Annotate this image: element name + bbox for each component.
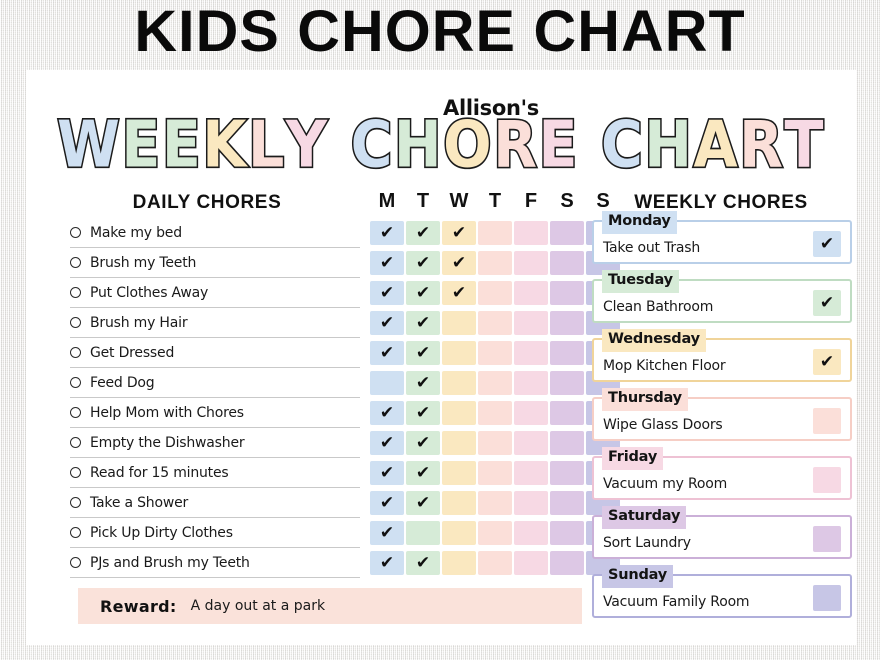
- checkbox-cell-checked[interactable]: ✔: [406, 311, 440, 335]
- daily-chore-row: Pick Up Dirty Clothes: [70, 518, 360, 548]
- weekly-chore-item: SaturdaySort Laundry: [592, 515, 852, 559]
- checkbox-cell-checked[interactable]: ✔: [406, 551, 440, 575]
- weekday-initial-0: M: [370, 190, 404, 213]
- checkbox-grid-row: ✔✔: [370, 398, 622, 428]
- checkbox-cell-empty[interactable]: [514, 221, 548, 245]
- weekly-chore-day-label: Monday: [602, 211, 677, 234]
- weekly-chore-day-label: Wednesday: [602, 329, 706, 352]
- checkbox-cell-empty[interactable]: [550, 401, 584, 425]
- bubble-letter-c-7: C: [351, 110, 394, 179]
- checkbox-cell-checked[interactable]: ✔: [370, 491, 404, 515]
- checkbox-cell-empty[interactable]: [442, 551, 476, 575]
- checkbox-cell-empty[interactable]: [442, 491, 476, 515]
- weekly-chore-task[interactable]: Sort Laundry: [603, 535, 691, 551]
- checkbox-cell-empty[interactable]: [514, 461, 548, 485]
- bubble-letter-r-10: R: [493, 110, 538, 179]
- daily-chore-label: Make my bed: [90, 225, 182, 241]
- checkbox-cell-checked[interactable]: ✔: [406, 371, 440, 395]
- checkbox-cell-empty[interactable]: [550, 341, 584, 365]
- checkbox-grid-row: ✔✔: [370, 458, 622, 488]
- weekly-chore-item: SundayVacuum Family Room: [592, 574, 852, 618]
- checkbox-cell-empty[interactable]: [478, 401, 512, 425]
- checkbox-cell-checked[interactable]: ✔: [370, 551, 404, 575]
- weekly-chore-day-label: Tuesday: [602, 270, 679, 293]
- circle-checkbox-icon[interactable]: [70, 377, 81, 388]
- weekly-chore-task[interactable]: Vacuum Family Room: [603, 594, 749, 610]
- daily-chore-label: Read for 15 minutes: [90, 465, 228, 481]
- daily-chore-label: Help Mom with Chores: [90, 405, 244, 421]
- circle-checkbox-icon[interactable]: [70, 557, 81, 568]
- weekly-checkbox-empty[interactable]: [813, 467, 841, 493]
- daily-chore-row: Read for 15 minutes: [70, 458, 360, 488]
- weekly-checkbox-empty[interactable]: [813, 585, 841, 611]
- circle-checkbox-icon[interactable]: [70, 527, 81, 538]
- checkbox-cell-empty[interactable]: [478, 281, 512, 305]
- weekly-chore-item: MondayTake out Trash✔: [592, 220, 852, 264]
- checkbox-cell-checked[interactable]: ✔: [370, 401, 404, 425]
- checkbox-grid-row: ✔✔: [370, 488, 622, 518]
- checkbox-cell-checked[interactable]: ✔: [406, 221, 440, 245]
- checkbox-cell-empty[interactable]: [442, 521, 476, 545]
- weekly-chore-task[interactable]: Mop Kitchen Floor: [603, 358, 725, 374]
- checkbox-grid-row: ✔✔: [370, 308, 622, 338]
- weekly-chore-day-label: Friday: [602, 447, 663, 470]
- bubble-heading: WEEKLYCHORECHART: [26, 114, 856, 176]
- weekly-chore-task[interactable]: Clean Bathroom: [603, 299, 713, 315]
- weekly-checkbox-checked[interactable]: ✔: [813, 290, 841, 316]
- weekday-initial-3: T: [478, 190, 512, 213]
- checkbox-cell-checked[interactable]: ✔: [406, 491, 440, 515]
- daily-chore-label: PJs and Brush my Teeth: [90, 555, 250, 571]
- weekly-chore-task[interactable]: Vacuum my Room: [603, 476, 727, 492]
- checkbox-grid-row: ✔✔: [370, 548, 622, 578]
- daily-chore-label: Get Dressed: [90, 345, 174, 361]
- checkbox-cell-empty[interactable]: [514, 251, 548, 275]
- weekday-initial-1: T: [406, 190, 440, 213]
- circle-checkbox-icon[interactable]: [70, 347, 81, 358]
- bubble-letter-k-3: K: [202, 110, 248, 179]
- bubble-letter-l-4: L: [248, 110, 286, 179]
- checkbox-cell-empty[interactable]: [550, 461, 584, 485]
- reward-bar: Reward: A day out at a park: [78, 588, 582, 624]
- bubble-letter-y-5: Y: [286, 110, 329, 179]
- checkbox-grid-row: ✔✔✔: [370, 218, 622, 248]
- weekly-chore-item: ThursdayWipe Glass Doors: [592, 397, 852, 441]
- checkbox-cell-checked[interactable]: ✔: [406, 251, 440, 275]
- checkbox-cell-empty[interactable]: [550, 221, 584, 245]
- checkbox-cell-checked[interactable]: ✔: [442, 221, 476, 245]
- checkbox-cell-checked[interactable]: ✔: [370, 281, 404, 305]
- weekday-header-row: MTWTFSS: [370, 190, 622, 213]
- checkbox-grid-row: ✔: [370, 368, 622, 398]
- bubble-letter-t-17: T: [785, 110, 825, 179]
- daily-chore-label: Empty the Dishwasher: [90, 435, 244, 451]
- reward-value[interactable]: A day out at a park: [191, 598, 325, 614]
- checkbox-cell-empty[interactable]: [550, 551, 584, 575]
- checkbox-cell-empty[interactable]: [514, 371, 548, 395]
- weekly-chore-task[interactable]: Take out Trash: [603, 240, 700, 256]
- checkbox-cell-empty[interactable]: [550, 371, 584, 395]
- checkbox-cell-checked[interactable]: ✔: [370, 221, 404, 245]
- weekly-checkbox-empty[interactable]: [813, 526, 841, 552]
- checkbox-cell-empty[interactable]: [478, 371, 512, 395]
- checkbox-grid-row: ✔✔: [370, 428, 622, 458]
- reward-label: Reward:: [100, 597, 177, 616]
- checkbox-cell-empty[interactable]: [550, 491, 584, 515]
- weekly-checkbox-checked[interactable]: ✔: [813, 349, 841, 375]
- checkbox-cell-empty[interactable]: [442, 401, 476, 425]
- daily-chore-label: Feed Dog: [90, 375, 154, 391]
- checkbox-cell-empty[interactable]: [478, 311, 512, 335]
- checkbox-cell-empty[interactable]: [514, 491, 548, 515]
- daily-chore-label: Brush my Hair: [90, 315, 187, 331]
- circle-checkbox-icon[interactable]: [70, 227, 81, 238]
- checkbox-cell-empty[interactable]: [514, 431, 548, 455]
- checkbox-cell-checked[interactable]: ✔: [370, 521, 404, 545]
- checkbox-cell-empty[interactable]: [514, 281, 548, 305]
- checkbox-cell-checked[interactable]: ✔: [406, 431, 440, 455]
- checkbox-cell-empty[interactable]: [514, 341, 548, 365]
- weekly-chore-item: WednesdayMop Kitchen Floor✔: [592, 338, 852, 382]
- daily-chore-row: Brush my Hair: [70, 308, 360, 338]
- weekly-chore-day-label: Sunday: [602, 565, 673, 588]
- weekly-chores-panel: MondayTake out Trash✔TuesdayClean Bathro…: [592, 220, 852, 633]
- weekly-checkbox-empty[interactable]: [813, 408, 841, 434]
- checkbox-cell-empty[interactable]: [514, 521, 548, 545]
- checkbox-cell-empty[interactable]: [478, 521, 512, 545]
- checkbox-cell-empty[interactable]: [478, 551, 512, 575]
- circle-checkbox-icon[interactable]: [70, 407, 81, 418]
- circle-checkbox-icon[interactable]: [70, 497, 81, 508]
- checkbox-cell-empty[interactable]: [514, 401, 548, 425]
- bubble-letter-e-2: E: [162, 110, 202, 179]
- checkbox-cell-empty[interactable]: [370, 371, 404, 395]
- daily-chore-row: Brush my Teeth: [70, 248, 360, 278]
- checkbox-cell-empty[interactable]: [514, 311, 548, 335]
- checkbox-cell-checked[interactable]: ✔: [406, 461, 440, 485]
- checkbox-cell-empty[interactable]: [550, 431, 584, 455]
- checkbox-cell-empty[interactable]: [442, 341, 476, 365]
- bubble-letter-w-0: W: [57, 110, 121, 179]
- weekly-chore-item: FridayVacuum my Room: [592, 456, 852, 500]
- checkbox-cell-checked[interactable]: ✔: [370, 341, 404, 365]
- circle-checkbox-icon[interactable]: [70, 467, 81, 478]
- circle-checkbox-icon[interactable]: [70, 437, 81, 448]
- checkbox-cell-empty[interactable]: [406, 521, 440, 545]
- weekday-initial-2: W: [442, 190, 476, 213]
- checkbox-cell-checked[interactable]: ✔: [406, 341, 440, 365]
- weekly-chore-task[interactable]: Wipe Glass Doors: [603, 417, 723, 433]
- checkbox-cell-checked[interactable]: ✔: [370, 311, 404, 335]
- checkbox-grid-row: ✔: [370, 518, 622, 548]
- weekly-checkbox-checked[interactable]: ✔: [813, 231, 841, 257]
- daily-chore-checkbox-grid[interactable]: ✔✔✔✔✔✔✔✔✔✔✔✔✔✔✔✔✔✔✔✔✔✔✔✔✔: [370, 218, 622, 578]
- daily-chore-row: Empty the Dishwasher: [70, 428, 360, 458]
- checkbox-grid-row: ✔✔✔: [370, 248, 622, 278]
- checkbox-cell-empty[interactable]: [478, 491, 512, 515]
- weekday-initial-6: S: [586, 190, 620, 213]
- bubble-letter-h-8: H: [394, 110, 443, 179]
- weekly-chore-day-label: Saturday: [602, 506, 686, 529]
- daily-chore-row: PJs and Brush my Teeth: [70, 548, 360, 578]
- checkbox-cell-empty[interactable]: [478, 431, 512, 455]
- weekday-initial-4: F: [514, 190, 548, 213]
- daily-chore-row: Feed Dog: [70, 368, 360, 398]
- daily-chore-label: Brush my Teeth: [90, 255, 196, 271]
- bubble-letter-c-13: C: [601, 110, 644, 179]
- chore-chart-card: Allison's WEEKLYCHORECHART DAILY CHORES …: [26, 70, 856, 645]
- daily-chore-row: Get Dressed: [70, 338, 360, 368]
- checkbox-cell-empty[interactable]: [550, 521, 584, 545]
- checkbox-cell-checked[interactable]: ✔: [370, 461, 404, 485]
- checkbox-cell-empty[interactable]: [550, 311, 584, 335]
- checkbox-cell-checked[interactable]: ✔: [442, 251, 476, 275]
- bubble-letter-e-11: E: [539, 110, 579, 179]
- daily-chore-row: Take a Shower: [70, 488, 360, 518]
- checkbox-cell-empty[interactable]: [442, 431, 476, 455]
- daily-chore-row: Make my bed: [70, 218, 360, 248]
- weekday-initial-5: S: [550, 190, 584, 213]
- checkbox-cell-checked[interactable]: ✔: [370, 251, 404, 275]
- page-title: KIDS CHORE CHART: [0, 0, 880, 66]
- checkbox-cell-empty[interactable]: [478, 341, 512, 365]
- checkbox-cell-empty[interactable]: [478, 461, 512, 485]
- daily-chore-label: Take a Shower: [90, 495, 188, 511]
- daily-chore-label: Put Clothes Away: [90, 285, 208, 301]
- circle-checkbox-icon[interactable]: [70, 287, 81, 298]
- bubble-letter-a-15: A: [694, 110, 740, 179]
- checkbox-grid-row: ✔✔: [370, 338, 622, 368]
- daily-chore-row: Help Mom with Chores: [70, 398, 360, 428]
- checkbox-cell-empty[interactable]: [442, 461, 476, 485]
- bubble-letter-h-14: H: [644, 110, 693, 179]
- circle-checkbox-icon[interactable]: [70, 317, 81, 328]
- daily-chores-list: Make my bedBrush my TeethPut Clothes Awa…: [70, 218, 360, 578]
- checkbox-cell-empty[interactable]: [550, 281, 584, 305]
- checkbox-cell-empty[interactable]: [514, 551, 548, 575]
- checkbox-cell-empty[interactable]: [550, 251, 584, 275]
- checkbox-cell-empty[interactable]: [442, 311, 476, 335]
- weekly-chore-item: TuesdayClean Bathroom✔: [592, 279, 852, 323]
- checkbox-grid-row: ✔✔✔: [370, 278, 622, 308]
- daily-chore-label: Pick Up Dirty Clothes: [90, 525, 233, 541]
- daily-chore-row: Put Clothes Away: [70, 278, 360, 308]
- bubble-letter-o-9: O: [443, 110, 493, 179]
- checkbox-cell-empty[interactable]: [478, 221, 512, 245]
- checkbox-cell-checked[interactable]: ✔: [406, 401, 440, 425]
- weekly-chore-day-label: Thursday: [602, 388, 688, 411]
- checkbox-cell-checked[interactable]: ✔: [370, 431, 404, 455]
- circle-checkbox-icon[interactable]: [70, 257, 81, 268]
- checkbox-cell-checked[interactable]: ✔: [442, 281, 476, 305]
- checkbox-cell-checked[interactable]: ✔: [406, 281, 440, 305]
- checkbox-cell-empty[interactable]: [442, 371, 476, 395]
- daily-chores-header: DAILY CHORES: [62, 192, 352, 214]
- checkbox-cell-empty[interactable]: [478, 251, 512, 275]
- bubble-letter-e-1: E: [121, 110, 161, 179]
- bubble-letter-r-16: R: [739, 110, 784, 179]
